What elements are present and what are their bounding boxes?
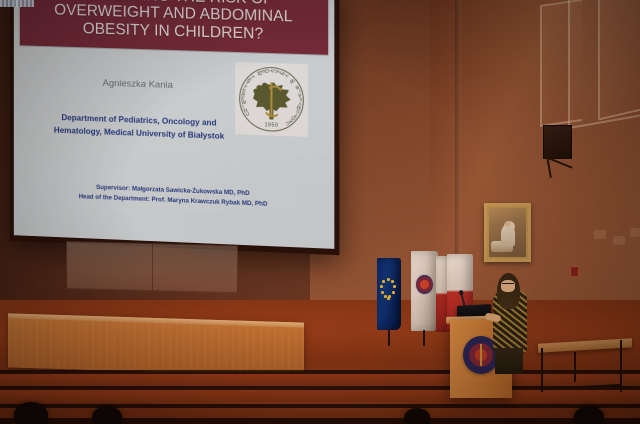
loudspeaker-icon bbox=[543, 125, 572, 159]
portrait-canvas bbox=[489, 208, 526, 257]
wall-sign bbox=[570, 266, 579, 277]
speaker-at-lectern bbox=[489, 276, 531, 372]
wall-panel-moulding bbox=[598, 0, 640, 121]
wall-mark bbox=[613, 236, 625, 245]
university-logo: 1950 UNIWERSYTET MEDYCZNY W BIAŁYMSTOKU bbox=[235, 62, 308, 137]
slide-department: Department of Pediatrics, Oncology and H… bbox=[20, 111, 260, 145]
logo-ring-text: UNIWERSYTET MEDYCZNY W BIAŁYMSTOKU bbox=[235, 62, 308, 137]
audience-head bbox=[574, 406, 604, 424]
stage-desk-grain bbox=[8, 318, 304, 376]
audience-head bbox=[404, 408, 430, 424]
stage-step-edge bbox=[0, 404, 640, 408]
side-table-leg bbox=[574, 352, 576, 382]
framed-portrait bbox=[484, 203, 531, 262]
eu-stars-icon bbox=[381, 278, 397, 308]
slide-author: Agnieszka Kania bbox=[14, 75, 264, 94]
glasses-icon bbox=[502, 283, 514, 287]
portrait-head bbox=[505, 221, 511, 227]
lecture-hall-photo: INCREASING THE RISK OF OVERWEIGHT AND AB… bbox=[0, 0, 640, 424]
stage-step-edge bbox=[0, 370, 640, 374]
european-union-flag bbox=[377, 258, 401, 330]
side-table-leg bbox=[541, 348, 543, 392]
flag-pole bbox=[388, 330, 390, 346]
wall-mark bbox=[594, 230, 606, 239]
flag-pole bbox=[423, 330, 425, 346]
image-artifact bbox=[0, 0, 34, 7]
portrait-figure bbox=[501, 225, 515, 247]
university-flag bbox=[411, 251, 438, 331]
speaker-skirt bbox=[495, 348, 523, 374]
university-flag-seal bbox=[416, 275, 433, 294]
presentation-slide: INCREASING THE RISK OF OVERWEIGHT AND AB… bbox=[14, 0, 335, 249]
stage-desk bbox=[8, 313, 304, 376]
slide-footer: Supervisor: Małgorzata Sawicka-Żukowska … bbox=[14, 180, 335, 213]
stage-step bbox=[0, 372, 640, 386]
whiteboard-divider bbox=[152, 244, 153, 290]
audience-head bbox=[14, 402, 48, 424]
projection-screen: INCREASING THE RISK OF OVERWEIGHT AND AB… bbox=[10, 0, 340, 255]
wall-mark bbox=[630, 228, 640, 237]
audience-head bbox=[92, 406, 122, 424]
whiteboard bbox=[66, 241, 238, 293]
slide-title-banner: INCREASING THE RISK OF OVERWEIGHT AND AB… bbox=[20, 0, 329, 55]
stage-step bbox=[0, 388, 640, 402]
slide-title: INCREASING THE RISK OF OVERWEIGHT AND AB… bbox=[20, 0, 329, 45]
caduceus-icon bbox=[480, 344, 482, 365]
